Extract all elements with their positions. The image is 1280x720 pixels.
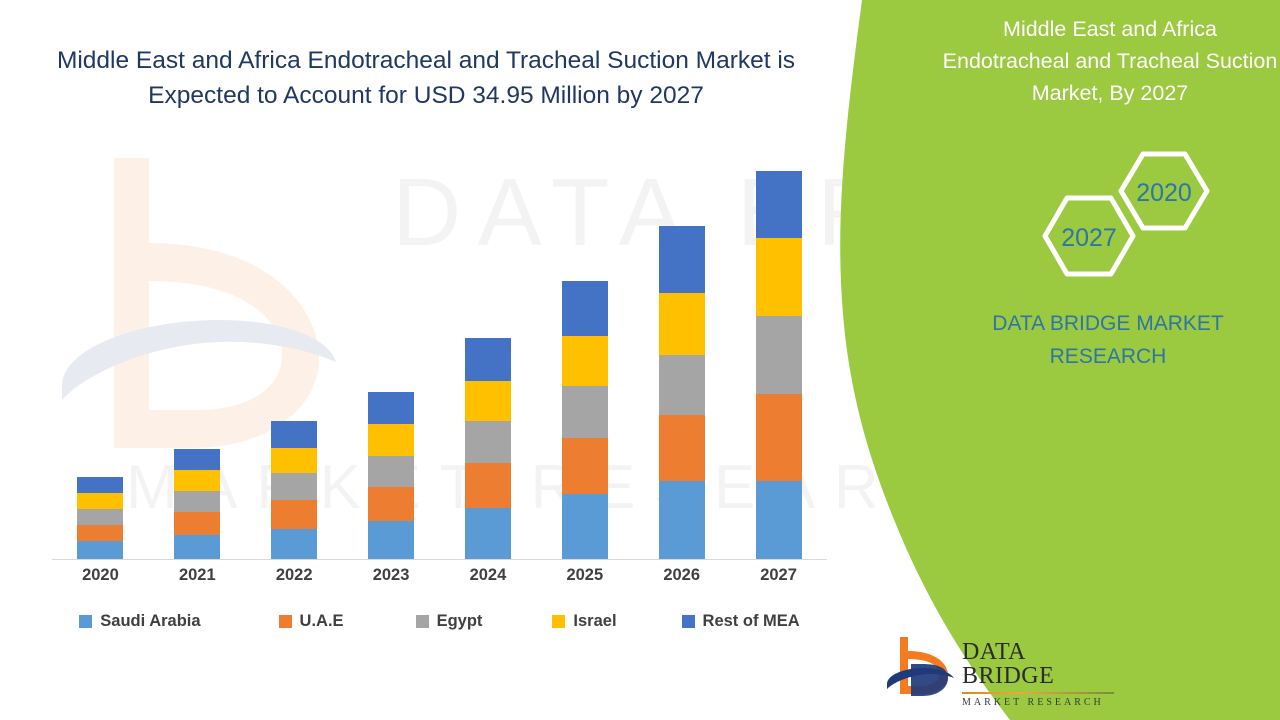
bar-segment[interactable] — [174, 491, 220, 512]
bar-segment[interactable] — [368, 424, 414, 455]
bar-segment[interactable] — [756, 481, 802, 559]
green-panel-content: Middle East and Africa Endotracheal and … — [940, 0, 1280, 720]
bar-segment[interactable] — [465, 463, 511, 508]
bar-segment[interactable] — [756, 316, 802, 394]
x-axis-label-2022: 2022 — [254, 566, 334, 585]
legend-item-saudi-arabia[interactable]: Saudi Arabia — [79, 612, 200, 631]
bar-segment[interactable] — [465, 381, 511, 422]
bar-segment[interactable] — [271, 473, 317, 499]
bar-segment[interactable] — [174, 512, 220, 535]
bar-column-2026[interactable] — [659, 226, 705, 559]
hexagon-2020-label: 2020 — [1136, 179, 1192, 207]
bar-segment[interactable] — [562, 386, 608, 438]
legend-swatch-icon — [279, 615, 292, 628]
logo-subtitle: MARKET RESEARCH — [962, 697, 1114, 708]
bar-segment[interactable] — [659, 226, 705, 293]
chart-plot-area — [52, 160, 827, 560]
legend-swatch-icon — [79, 615, 92, 628]
bar-segment[interactable] — [562, 494, 608, 559]
chart-panel: Middle East and Africa Endotracheal and … — [0, 0, 860, 720]
bar-column-2027[interactable] — [756, 171, 802, 559]
x-axis-label-2026: 2026 — [642, 566, 722, 585]
infographic-canvas: DATA BRIDGE MARKET RESEARCH Middle East … — [0, 0, 1280, 720]
legend-label: Israel — [573, 612, 616, 631]
bar-segment[interactable] — [174, 535, 220, 559]
green-panel-title: Middle East and Africa Endotracheal and … — [938, 14, 1280, 109]
bar-segment[interactable] — [562, 438, 608, 494]
bar-segment[interactable] — [174, 470, 220, 491]
bar-segment[interactable] — [271, 448, 317, 473]
bar-segment[interactable] — [77, 509, 123, 525]
page-title: Middle East and Africa Endotracheal and … — [56, 44, 796, 114]
x-axis-label-2027: 2027 — [739, 566, 819, 585]
bar-segment[interactable] — [465, 421, 511, 463]
x-axis-label-2023: 2023 — [351, 566, 431, 585]
x-axis-label-2024: 2024 — [448, 566, 528, 585]
legend-label: Rest of MEA — [703, 612, 800, 631]
x-axis-line — [52, 559, 827, 560]
logo-title: DATA BRIDGE — [962, 640, 1114, 688]
data-bridge-b-icon — [884, 634, 958, 700]
legend-item-rest-of-mea[interactable]: Rest of MEA — [682, 612, 800, 631]
brand-name-text: DATA BRIDGE MARKET RESEARCH — [940, 308, 1276, 373]
legend-swatch-icon — [682, 615, 695, 628]
bar-segment[interactable] — [271, 421, 317, 448]
bar-column-2021[interactable] — [174, 449, 220, 559]
x-axis-label-2020: 2020 — [60, 566, 140, 585]
bar-segment[interactable] — [756, 394, 802, 481]
bar-segment[interactable] — [659, 293, 705, 356]
company-logo: DATA BRIDGE MARKET RESEARCH — [884, 634, 1114, 700]
bar-segment[interactable] — [562, 281, 608, 335]
bar-segment[interactable] — [659, 481, 705, 559]
bar-segment[interactable] — [368, 392, 414, 424]
bar-segment[interactable] — [368, 456, 414, 487]
bar-segment[interactable] — [756, 238, 802, 315]
bar-column-2020[interactable] — [77, 477, 123, 559]
bar-column-2023[interactable] — [368, 392, 414, 559]
legend-item-israel[interactable]: Israel — [552, 612, 616, 631]
chart-legend: Saudi ArabiaU.A.EEgyptIsraelRest of MEA — [52, 612, 827, 631]
x-axis-label-2025: 2025 — [545, 566, 625, 585]
bar-segment[interactable] — [174, 449, 220, 470]
legend-swatch-icon — [552, 615, 565, 628]
bar-segment[interactable] — [271, 529, 317, 559]
bar-segment[interactable] — [77, 493, 123, 509]
bar-segment[interactable] — [465, 338, 511, 381]
hexagon-2027-label: 2027 — [1061, 224, 1117, 252]
legend-item-egypt[interactable]: Egypt — [416, 612, 483, 631]
bar-segment[interactable] — [77, 477, 123, 494]
x-axis-label-2021: 2021 — [157, 566, 237, 585]
logo-wordmark: DATA BRIDGE MARKET RESEARCH — [962, 640, 1114, 708]
bar-segment[interactable] — [368, 521, 414, 559]
legend-label: Saudi Arabia — [100, 612, 200, 631]
bar-segment[interactable] — [77, 525, 123, 542]
stacked-bar-chart — [52, 160, 827, 560]
bar-column-2024[interactable] — [465, 338, 511, 559]
bar-segment[interactable] — [562, 336, 608, 386]
bar-column-2025[interactable] — [562, 281, 608, 559]
bar-column-2022[interactable] — [271, 421, 317, 559]
legend-swatch-icon — [416, 615, 429, 628]
bar-segment[interactable] — [659, 355, 705, 414]
bar-segment[interactable] — [77, 541, 123, 559]
bar-segment[interactable] — [465, 508, 511, 559]
logo-divider — [962, 692, 1114, 694]
legend-label: Egypt — [437, 612, 483, 631]
bar-segment[interactable] — [756, 171, 802, 239]
hexagon-year-badges: 2020 2027 — [935, 148, 1279, 288]
bar-segment[interactable] — [659, 415, 705, 481]
bar-segment[interactable] — [271, 500, 317, 529]
bar-segment[interactable] — [368, 487, 414, 521]
legend-item-u-a-e[interactable]: U.A.E — [279, 612, 344, 631]
legend-label: U.A.E — [300, 612, 344, 631]
x-axis-labels: 20202021202220232024202520262027 — [52, 566, 827, 596]
